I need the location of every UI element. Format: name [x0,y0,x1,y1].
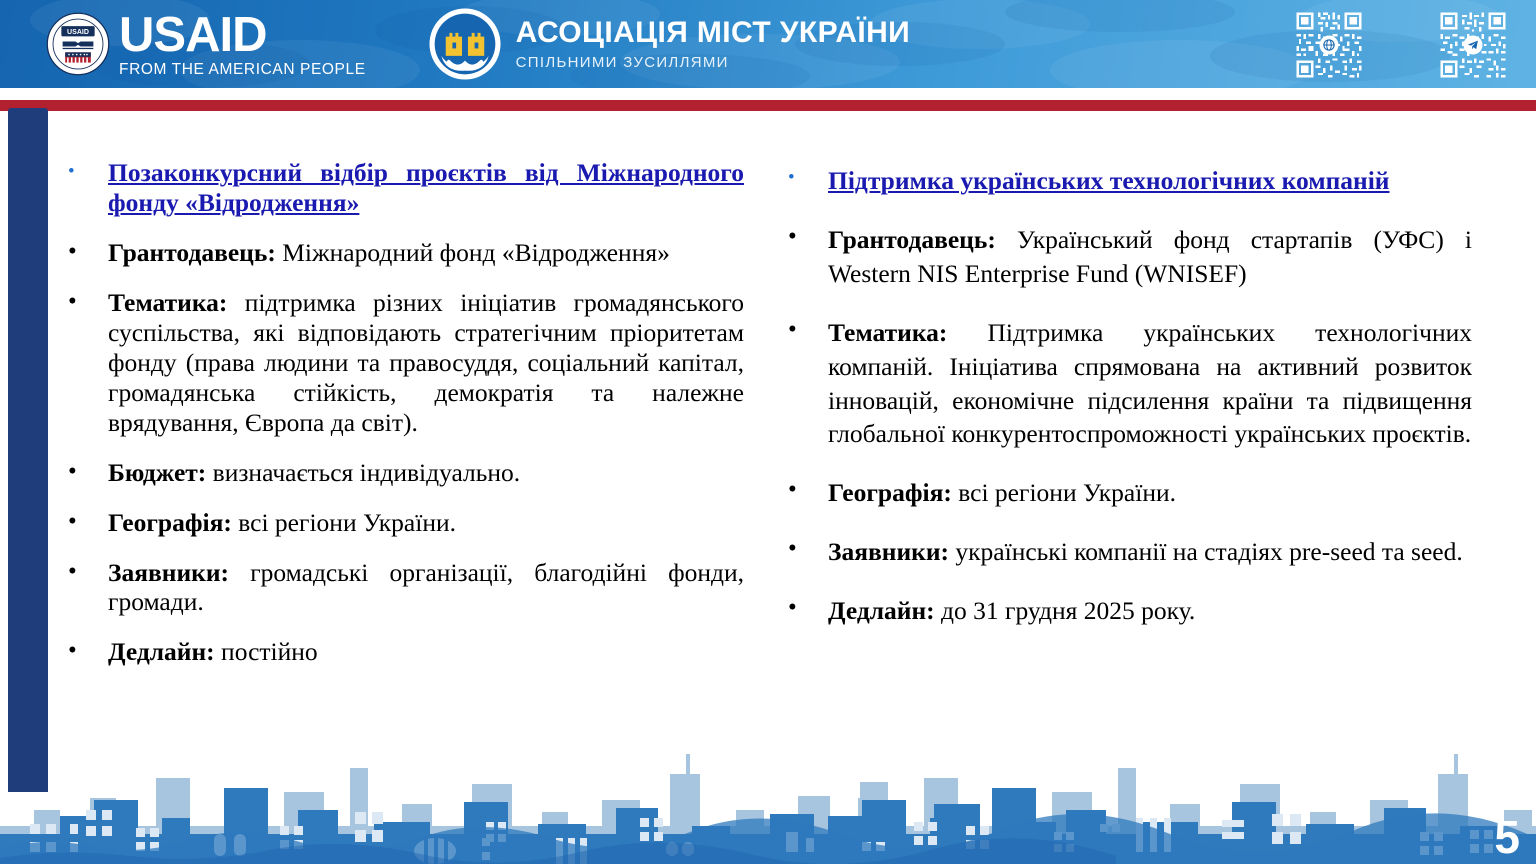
list-item: Дедлайн: до 31 грудня 2025 року. [776,594,1472,628]
amu-title: АСОЦІАЦІЯ МІСТ УКРАЇНИ [516,18,910,48]
left-bullet-list: Позаконкурсний відбір проєктів від Міжна… [56,158,744,667]
amu-seal-icon [428,7,502,81]
item-value: постійно [215,637,318,666]
list-item: Дедлайн: постійно [56,637,744,667]
qr-code-website[interactable] [1294,10,1364,80]
qr-code-group [1294,10,1508,80]
list-item: Географія: всі регіони України. [776,476,1472,510]
globe-icon [1320,36,1339,55]
item-label: Тематика: [108,288,227,317]
slide-content: Позаконкурсний відбір проєктів від Міжна… [0,118,1536,738]
cityscape-silhouette-icon [0,738,1536,864]
item-value: українські компанії на стадіях pre-seed … [949,537,1463,566]
page-header: USAID U [0,0,1536,88]
left-heading-link[interactable]: Позаконкурсний відбір проєктів від Міжна… [108,158,744,217]
item-value: всі регіони України. [232,508,456,537]
item-label: Дедлайн: [828,596,935,625]
amu-subtitle: СПІЛЬНИМИ ЗУСИЛЛЯМИ [516,55,910,70]
right-heading-link[interactable]: Підтримка українських технологічних комп… [828,166,1390,195]
item-label: Грантодавець: [828,225,996,254]
usaid-tagline: FROM THE AMERICAN PEOPLE [119,62,366,78]
right-column: Підтримка українських технологічних комп… [768,118,1536,738]
list-item: Тематика: Підтримка українських технолог… [776,316,1472,452]
item-label: Бюджет: [108,458,206,487]
item-label: Грантодавець: [108,238,276,267]
item-label: Дедлайн: [108,637,215,666]
item-value: визначається індивідуально. [206,458,520,487]
item-label: Географія: [108,508,232,537]
item-value: до 31 грудня 2025 року. [935,596,1196,625]
item-label: Тематика: [828,318,947,347]
list-item: Грантодавець: Український фонд стартапів… [776,223,1472,291]
page-number: 5 [1494,814,1520,860]
list-item[interactable]: Позаконкурсний відбір проєктів від Міжна… [56,158,744,218]
telegram-icon [1464,36,1483,55]
usaid-wordmark: USAID [119,11,366,60]
list-item: Тематика: підтримка різних ініціатив гро… [56,288,744,438]
item-label: Заявники: [828,537,949,566]
list-item[interactable]: Підтримка українських технологічних комп… [776,164,1472,198]
page-footer: 5 [0,738,1536,864]
item-value: всі регіони України. [952,478,1176,507]
usaid-logo: USAID U [46,11,366,78]
left-column: Позаконкурсний відбір проєктів від Міжна… [0,118,768,738]
svg-text:USAID: USAID [67,29,89,36]
list-item: Географія: всі регіони України. [56,508,744,538]
item-label: Заявники: [108,558,229,587]
list-item: Заявники: українські компанії на стадіях… [776,535,1472,569]
list-item: Бюджет: визначається індивідуально. [56,458,744,488]
item-label: Географія: [828,478,952,507]
qr-code-telegram[interactable] [1438,10,1508,80]
right-bullet-list: Підтримка українських технологічних комп… [776,164,1472,628]
usaid-seal-icon: USAID [46,12,110,76]
list-item: Грантодавець: Міжнародний фонд «Відродже… [56,238,744,268]
red-divider-rule [0,100,1536,111]
list-item: Заявники: громадські організації, благод… [56,558,744,618]
item-value: Міжнародний фонд «Відродження» [276,238,670,267]
amu-logo: АСОЦІАЦІЯ МІСТ УКРАЇНИ СПІЛЬНИМИ ЗУСИЛЛЯ… [428,7,910,81]
